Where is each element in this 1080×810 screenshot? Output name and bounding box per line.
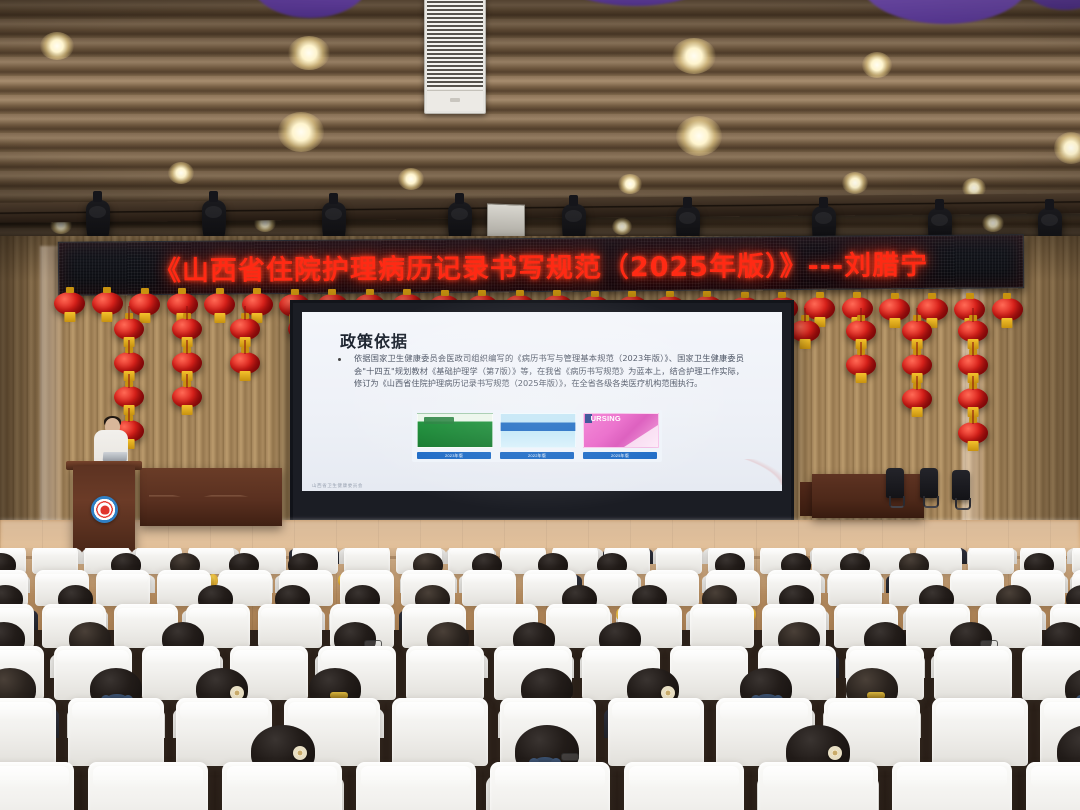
seat-back-highlight (525, 574, 575, 583)
lantern-cord (972, 308, 974, 322)
lantern-cord (860, 308, 862, 322)
seat-back-highlight (937, 650, 1009, 664)
lantern-right-c3-3 (902, 388, 932, 410)
seat-back-highlight (909, 608, 968, 619)
seat-back-highlight (1025, 650, 1080, 664)
audience-seating: 3-05-025-02 (0, 548, 1080, 810)
seat-back-highlight (828, 702, 916, 720)
lantern-top-4 (167, 293, 198, 316)
lantern-cord (804, 308, 806, 322)
seat-back-highlight (261, 608, 320, 619)
lantern-cord (186, 306, 188, 320)
slide-bullet-marker (338, 358, 341, 361)
seat-back-highlight (405, 608, 464, 619)
lantern-top-23 (879, 298, 910, 321)
lantern-cord (186, 374, 188, 388)
nursing-wordmark: URSING (586, 414, 621, 423)
seat-back-highlight (761, 650, 833, 664)
seat-back-highlight (849, 650, 921, 664)
seat-back-highlight (673, 650, 745, 664)
seat-back-highlight (281, 574, 331, 583)
auditorium-seat[interactable] (0, 762, 74, 810)
auditorium-seat[interactable] (0, 698, 56, 766)
lantern-right-c2-1 (846, 320, 876, 342)
seat-back-highlight (396, 702, 484, 720)
auditorium-seat[interactable] (828, 570, 882, 606)
lantern-left-c2-2 (172, 352, 202, 374)
hospital-emblem-icon (91, 496, 118, 523)
seat-back-highlight (497, 650, 569, 664)
seat-back-highlight (1053, 608, 1080, 619)
led-banner: 《山西省住院护理病历记录书写规范（2025年版）》---刘腊宁 (58, 234, 1024, 296)
seat-back-highlight (936, 702, 1024, 720)
lantern-left-c1-2 (114, 352, 144, 374)
head-table-right (812, 474, 924, 518)
seat-back-highlight (190, 548, 232, 556)
auditorium-seat[interactable] (892, 762, 1012, 810)
seat-back-highlight (504, 702, 592, 720)
lantern-left-c1-1 (114, 318, 144, 340)
lantern-cord (128, 408, 130, 422)
seat-back-highlight (159, 574, 209, 583)
lantern-right-c1-1 (790, 320, 820, 342)
seat-back-highlight (891, 574, 941, 583)
seat-back-highlight (1074, 574, 1080, 583)
seat-back-highlight (342, 574, 392, 583)
lantern-right-c3-1 (902, 320, 932, 342)
lantern-left-c3-2 (230, 352, 260, 374)
seat-back-highlight (495, 766, 605, 788)
seat-back-highlight (897, 766, 1007, 788)
seat-back-highlight (180, 702, 268, 720)
auditorium-seat[interactable] (670, 646, 748, 700)
lantern-cord (972, 376, 974, 390)
seat-back-highlight (403, 574, 453, 583)
seat-back-highlight (765, 608, 824, 619)
lantern-right-c4-4 (958, 422, 988, 444)
seat-back-highlight (866, 548, 908, 556)
seat-back-highlight (220, 574, 270, 583)
seat-back-highlight (93, 766, 203, 788)
lantern-cord (244, 340, 246, 354)
lantern-cord (916, 308, 918, 322)
seat-back-highlight (117, 608, 176, 619)
seat-back-highlight (333, 608, 392, 619)
lantern-cord (128, 306, 130, 320)
seat-back-highlight (970, 548, 1012, 556)
seat-back-highlight (346, 548, 388, 556)
seat-back-highlight (763, 766, 873, 788)
lantern-cord (972, 342, 974, 356)
lantern-top-3 (129, 293, 160, 316)
seat-back-highlight (0, 766, 69, 788)
auditorium-seat[interactable] (96, 570, 150, 606)
lantern-top-5 (204, 293, 235, 316)
book-caption-2: 2022年版 (500, 452, 574, 459)
lantern-left-c1-3 (114, 386, 144, 408)
seat-back-highlight (720, 702, 808, 720)
lantern-cord (972, 410, 974, 424)
book-cover-pink: URSING (583, 413, 659, 448)
seat-back-highlight (37, 574, 87, 583)
seat-back-highlight (321, 650, 393, 664)
seat-back-highlight (1013, 574, 1063, 583)
lantern-top-1 (54, 292, 85, 315)
book-item-1: 2023年版 (417, 413, 491, 459)
seat-back-highlight (189, 608, 248, 619)
seat-back-highlight (981, 608, 1040, 619)
book-cover-triangle (624, 425, 658, 447)
seat-back-highlight (1031, 766, 1080, 788)
book-item-3: URSING 2025年版 (583, 413, 657, 459)
seat-back-highlight (72, 702, 160, 720)
lantern-right-c2-2 (846, 354, 876, 376)
lantern-left-c2-3 (172, 386, 202, 408)
seat-back-highlight (1074, 548, 1080, 556)
seat-back-highlight (693, 608, 752, 619)
speaker-podium (73, 466, 135, 552)
seat-back-highlight (0, 650, 41, 664)
head-table-left (140, 468, 282, 526)
book-item-2: 2022年版 (500, 413, 574, 459)
seat-back-highlight (952, 574, 1002, 583)
screen-surface: 政策依据 依据国家卫生健康委员会医政司组织编写的《病历书写与管理基本规范（202… (302, 312, 782, 491)
lantern-left-c2-1 (172, 318, 202, 340)
auditorium-seat[interactable] (406, 646, 484, 700)
lantern-right-c4-1 (958, 320, 988, 342)
seat-back-highlight (621, 608, 680, 619)
seat-back-highlight (409, 650, 481, 664)
slide-book-row: 2023年版 2022年版 URSING 2025年版 (412, 410, 662, 462)
seat-back-highlight (45, 608, 104, 619)
auditorium-seat[interactable] (356, 762, 476, 810)
seat-back-highlight (1044, 702, 1080, 720)
auditorium-seat[interactable] (392, 698, 488, 766)
seat-back-highlight (288, 702, 376, 720)
office-chair-3 (952, 470, 970, 500)
auditorium-seat[interactable] (88, 762, 208, 810)
seat-back-highlight (586, 574, 636, 583)
conference-hall-photo: 《山西省住院护理病历记录书写规范（2025年版）》---刘腊宁 政策依据 依据国… (0, 0, 1080, 810)
auditorium-seat[interactable] (690, 604, 754, 648)
lantern-cord (860, 342, 862, 356)
led-banner-text: 《山西省住院护理病历记录书写规范（2025年版）》---刘腊宁 (154, 242, 929, 287)
auditorium-seat[interactable] (462, 570, 516, 606)
seat-back-highlight (647, 574, 697, 583)
seat-back-highlight (769, 574, 819, 583)
projection-screen: 政策依据 依据国家卫生健康委员会医政司组织编写的《病历书写与管理基本规范（202… (290, 300, 794, 528)
seat-back-highlight (708, 574, 758, 583)
auditorium-seat[interactable] (258, 604, 322, 648)
seat-back-highlight (585, 650, 657, 664)
book-cover-blue (500, 413, 576, 448)
auditorium-seat[interactable] (1026, 762, 1080, 810)
seat-back-highlight (658, 548, 700, 556)
seat-back-highlight (612, 702, 700, 720)
auditorium-seat[interactable] (624, 762, 744, 810)
slide-body-text: 依据国家卫生健康委员会医政司组织编写的《病历书写与管理基本规范（2023年版）》… (354, 352, 744, 390)
auditorium-seat[interactable] (222, 762, 342, 810)
auditorium-seat[interactable] (932, 698, 1028, 766)
seat-back-highlight (629, 766, 739, 788)
podium-laptop (103, 452, 128, 461)
seat-back-highlight (918, 548, 960, 556)
lantern-cord (244, 306, 246, 320)
seat-back-highlight (837, 608, 896, 619)
slide-title: 政策依据 (340, 328, 408, 352)
seat-back-highlight (0, 574, 26, 583)
auditorium-seat[interactable] (68, 698, 164, 766)
slide-footer-text: 山西省卫生健康委员会 (312, 483, 363, 489)
office-chair-2 (920, 468, 938, 498)
office-chair-1 (886, 468, 904, 498)
auditorium-seat[interactable] (608, 698, 704, 766)
lantern-right-c3-2 (902, 354, 932, 376)
seat-back-highlight (233, 650, 305, 664)
book-caption-3: 2025年版 (583, 452, 657, 459)
lantern-cord (128, 374, 130, 388)
lantern-right-c4-3 (958, 388, 988, 410)
seat-back-highlight (0, 702, 52, 720)
slide-decorative-curve (582, 459, 782, 485)
lantern-right-c4-2 (958, 354, 988, 376)
lantern-cord (916, 342, 918, 356)
auditorium-seat[interactable] (758, 762, 878, 810)
seat-back-highlight (502, 548, 544, 556)
lantern-cord (128, 340, 130, 354)
seat-back-highlight (549, 608, 608, 619)
seat-back-highlight (361, 766, 471, 788)
lantern-cord (916, 376, 918, 390)
seat-back-highlight (34, 548, 76, 556)
auditorium-seat[interactable] (934, 646, 1012, 700)
seat-back-highlight (145, 650, 217, 664)
auditorium-seat[interactable] (490, 762, 610, 810)
seat-back-highlight (138, 548, 180, 556)
seat-back-highlight (98, 574, 148, 583)
seat-back-highlight (57, 650, 129, 664)
lantern-top-2 (92, 292, 123, 315)
seat-back-highlight (477, 608, 536, 619)
book-cover-green (417, 413, 493, 448)
seat-back-highlight (464, 574, 514, 583)
lantern-top-26 (992, 298, 1023, 321)
seat-back-highlight (227, 766, 337, 788)
book-caption-1: 2023年版 (417, 452, 491, 459)
lantern-cord (186, 340, 188, 354)
seat-back-highlight (0, 608, 31, 619)
lantern-left-c3-1 (230, 318, 260, 340)
lantern-top-24 (917, 298, 948, 321)
eyeglasses (561, 753, 579, 761)
seat-back-highlight (830, 574, 880, 583)
